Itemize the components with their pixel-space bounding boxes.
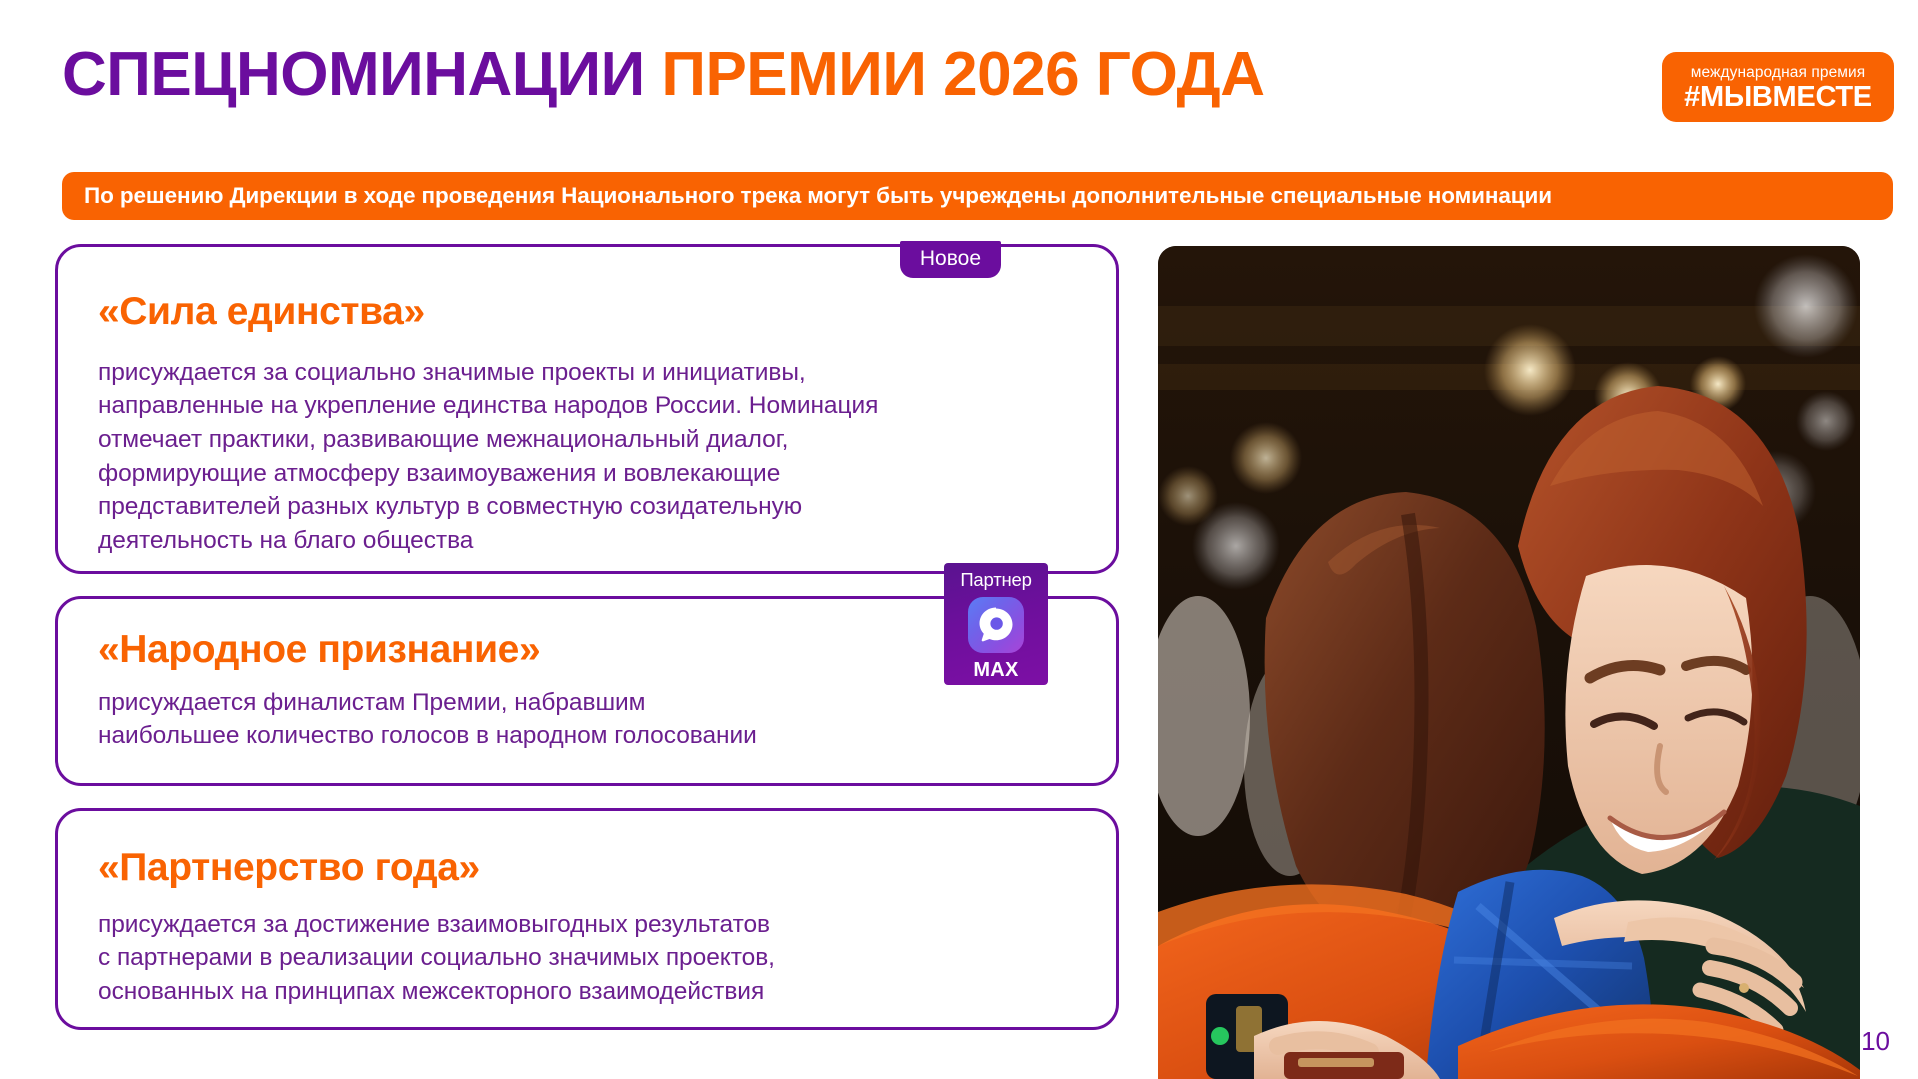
hero-photo — [1158, 246, 1860, 1079]
card-description-line: присуждается за социально значимые проек… — [98, 356, 1076, 390]
max-logo-icon — [968, 597, 1024, 653]
partner-badge-label: Партнер — [960, 571, 1031, 590]
nomination-card-narodnoe-priznanie[interactable]: Партнер MAX «Народное признание» присужд… — [55, 596, 1119, 786]
status-badge-new: Новое — [900, 241, 1001, 278]
card-description: присуждается за достижение взаимовыгодны… — [98, 908, 1076, 1009]
nomination-card-sila-edinstva[interactable]: Новое «Сила единства» присуждается за со… — [55, 244, 1119, 574]
partner-badge-name: MAX — [973, 660, 1018, 680]
page-title-orange: ПРЕМИИ 2026 ГОДА — [661, 40, 1264, 109]
card-description-line: наибольшее количество голосов в народном… — [98, 719, 1076, 753]
card-description-line: присуждается за достижение взаимовыгодны… — [98, 908, 1076, 942]
brand-logo-name: #МЫВМЕСТЕ — [1684, 82, 1872, 112]
card-description-line: формирующие атмосферу взаимоуважения и в… — [98, 457, 1076, 491]
card-description-line: отмечает практики, развивающие межнацион… — [98, 423, 1076, 457]
partner-badge-max: Партнер MAX — [944, 563, 1048, 685]
card-description-line: направленные на укрепление единства наро… — [98, 389, 1076, 423]
info-banner-text: По решению Дирекции в ходе проведения На… — [84, 183, 1552, 209]
card-description: присуждается финалистам Премии, набравши… — [98, 686, 1076, 753]
info-banner: По решению Дирекции в ходе проведения На… — [62, 172, 1893, 220]
nomination-cards: Новое «Сила единства» присуждается за со… — [55, 244, 1119, 1052]
page-number: 10 — [1861, 1026, 1890, 1057]
card-title: «Партнерство года» — [98, 847, 1076, 890]
card-description-line: присуждается финалистам Премии, набравши… — [98, 686, 1076, 720]
card-title: «Народное признание» — [98, 629, 1076, 672]
slide: СПЕЦНОМИНАЦИИ ПРЕМИИ 2026 ГОДА междунаро… — [0, 0, 1918, 1079]
nomination-card-partnerstvo-goda[interactable]: «Партнерство года» присуждается за дости… — [55, 808, 1119, 1030]
brand-logo: международная премия #МЫВМЕСТЕ — [1662, 52, 1894, 122]
brand-logo-tagline: международная премия — [1691, 64, 1866, 81]
card-description-line: деятельность на благо общества — [98, 524, 1076, 558]
card-title: «Сила единства» — [98, 291, 1076, 334]
card-description-line: представителей разных культур в совместн… — [98, 490, 1076, 524]
card-description-line: с партнерами в реализации социально знач… — [98, 941, 1076, 975]
card-description: присуждается за социально значимые проек… — [98, 356, 1076, 557]
page-title-purple: СПЕЦНОМИНАЦИИ — [62, 40, 661, 109]
page-title: СПЕЦНОМИНАЦИИ ПРЕМИИ 2026 ГОДА — [62, 42, 1265, 107]
card-description-line: основанных на принципах межсекторного вз… — [98, 975, 1076, 1009]
